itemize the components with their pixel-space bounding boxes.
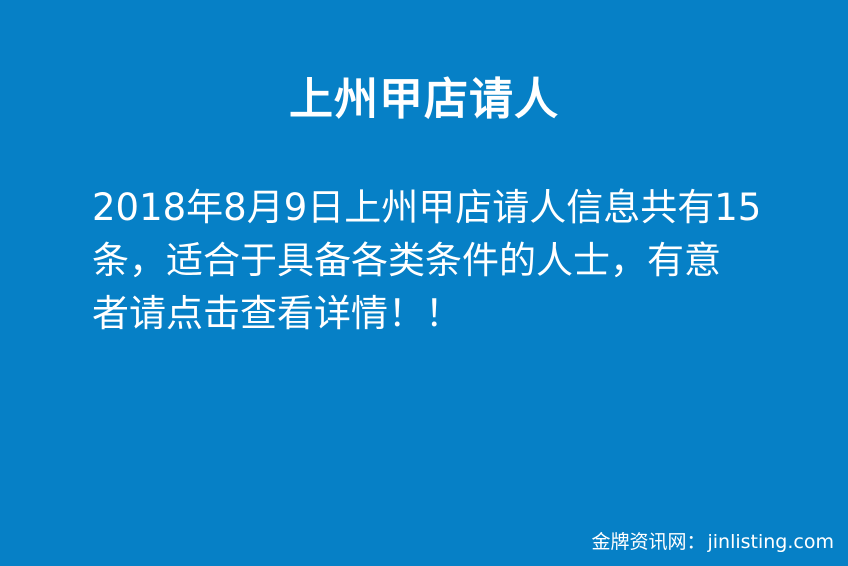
description-line-3: 者请点击查看详情！！ [92,287,782,340]
description-line-2: 条，适合于具备各类条件的人士，有意 [92,234,782,287]
footer-url: jinlisting.com [707,530,834,554]
footer-site-name: 金牌资讯网： [591,530,705,554]
footer-watermark: 金牌资讯网： jinlisting.com [591,530,834,554]
poster-description: 2018年8月9日上州甲店请人信息共有15 条，适合于具备各类条件的人士，有意 … [92,181,782,340]
poster-card: 上州甲店请人 2018年8月9日上州甲店请人信息共有15 条，适合于具备各类条件… [0,0,848,566]
page-title: 上州甲店请人 [0,74,848,126]
description-line-1: 2018年8月9日上州甲店请人信息共有15 [92,181,782,234]
